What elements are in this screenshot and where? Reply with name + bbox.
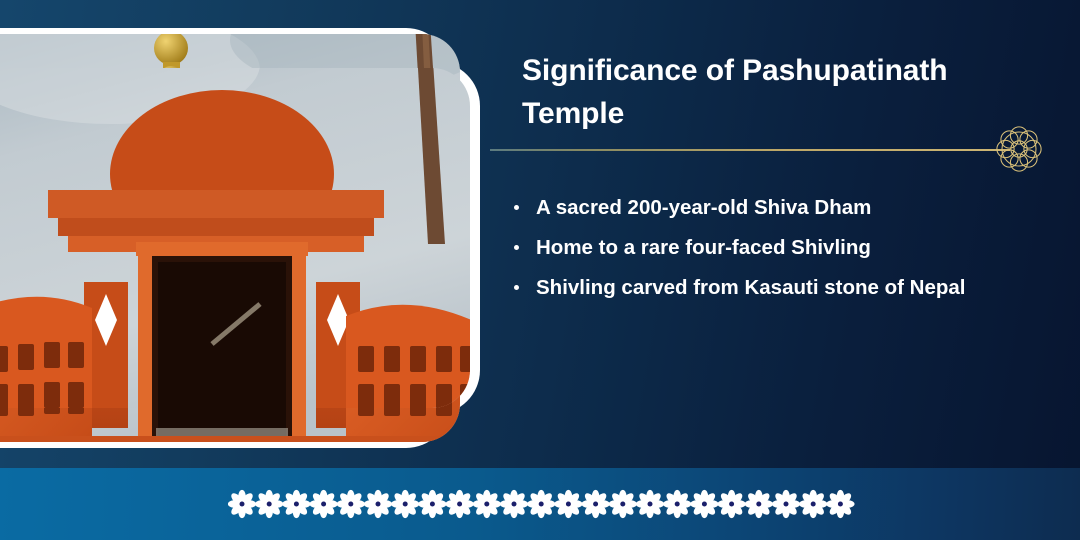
eight-petal-flower-icon bbox=[690, 490, 718, 518]
eight-petal-flower-icon bbox=[772, 490, 800, 518]
page-title: Significance of Pashupatinath Temple bbox=[522, 50, 1002, 135]
list-item: Shivling carved from Kasauti stone of Ne… bbox=[508, 268, 1028, 308]
bullet-list: A sacred 200-year-old Shiva Dham Home to… bbox=[508, 188, 1028, 307]
list-item: A sacred 200-year-old Shiva Dham bbox=[508, 188, 1028, 228]
eight-petal-flower-icon bbox=[581, 490, 609, 518]
photo-clip-lower bbox=[0, 68, 470, 408]
eight-petal-flower-icon bbox=[228, 490, 256, 518]
divider-line bbox=[490, 149, 1010, 151]
eight-petal-flower-icon bbox=[337, 490, 365, 518]
list-item-label: A sacred 200-year-old Shiva Dham bbox=[536, 196, 871, 219]
eight-petal-flower-icon bbox=[636, 490, 664, 518]
eight-petal-flower-icon bbox=[554, 490, 582, 518]
flower-divider-row bbox=[228, 478, 868, 530]
eight-petal-flower-icon bbox=[255, 490, 283, 518]
list-item-label: Home to a rare four-faced Shivling bbox=[536, 236, 871, 259]
eight-petal-flower-icon bbox=[391, 490, 419, 518]
temple-photo-card bbox=[0, 28, 480, 448]
eight-petal-flower-icon bbox=[826, 490, 854, 518]
mandala-rosette-icon bbox=[990, 120, 1048, 178]
slide-root: Significance of Pashupatinath Temple bbox=[0, 0, 1080, 540]
eight-petal-flower-icon bbox=[527, 490, 555, 518]
bullet-dot-icon bbox=[514, 285, 519, 290]
temple-photo-image-lower bbox=[0, 68, 470, 408]
eight-petal-flower-icon bbox=[364, 490, 392, 518]
eight-petal-flower-icon bbox=[799, 490, 827, 518]
list-item: Home to a rare four-faced Shivling bbox=[508, 228, 1028, 268]
eight-petal-flower-icon bbox=[663, 490, 691, 518]
eight-petal-flower-icon bbox=[717, 490, 745, 518]
eight-petal-flower-icon bbox=[609, 490, 637, 518]
eight-petal-flower-icon bbox=[473, 490, 501, 518]
bullet-dot-icon bbox=[514, 205, 519, 210]
eight-petal-flower-icon bbox=[282, 490, 310, 518]
list-item-label: Shivling carved from Kasauti stone of Ne… bbox=[536, 276, 965, 299]
eight-petal-flower-icon bbox=[418, 490, 446, 518]
content-column: Significance of Pashupatinath Temple bbox=[490, 0, 1080, 468]
bullet-dot-icon bbox=[514, 245, 519, 250]
footer-band bbox=[0, 468, 1080, 540]
eight-petal-flower-icon bbox=[309, 490, 337, 518]
eight-petal-flower-icon bbox=[445, 490, 473, 518]
eight-petal-flower-icon bbox=[745, 490, 773, 518]
eight-petal-flower-icon bbox=[500, 490, 528, 518]
